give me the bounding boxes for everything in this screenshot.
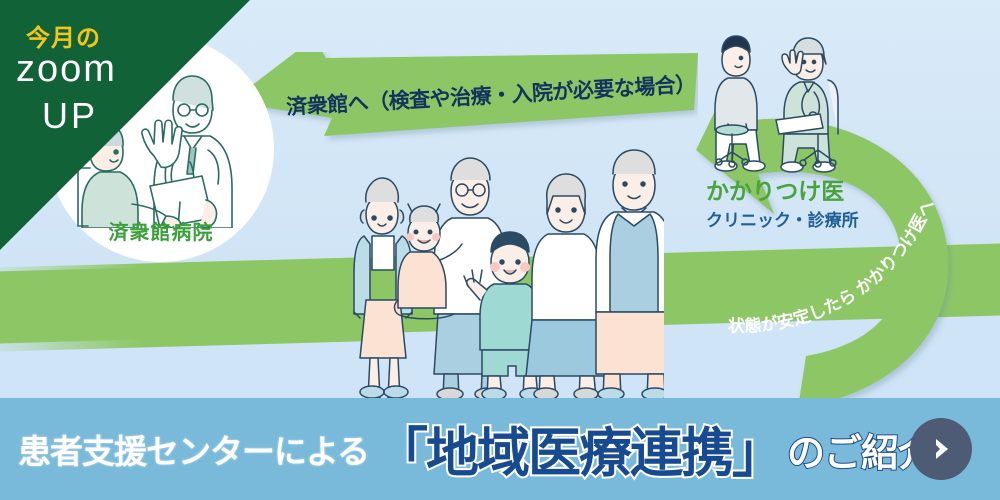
clinic-illustration xyxy=(700,24,870,174)
corner-badge-zoom-label: zoom xyxy=(16,48,117,91)
family-illustration xyxy=(352,140,664,398)
corner-badge-up-label: UP xyxy=(42,95,98,137)
hospital-label: 済衆館病院 xyxy=(48,216,274,245)
chevron-right-icon xyxy=(927,435,955,463)
bottom-banner-main-title: 「地域医療連携」 xyxy=(375,411,783,487)
next-button[interactable] xyxy=(910,418,972,480)
clinic-title: かかりつけ医 xyxy=(706,172,844,206)
green-ground-band-fade xyxy=(0,256,401,352)
clinic-subtitle: クリニック・診療所 xyxy=(706,206,859,231)
bottom-banner-prefix: 患者支援センターによる xyxy=(18,425,369,473)
promo-banner: 状態が安定したら かかりつけ医へ 済衆館へ（検査や治療・入院が必要な場合） xyxy=(0,0,1000,500)
bottom-banner[interactable]: 患者支援センターによる 「地域医療連携」 のご紹介 xyxy=(0,398,1000,500)
